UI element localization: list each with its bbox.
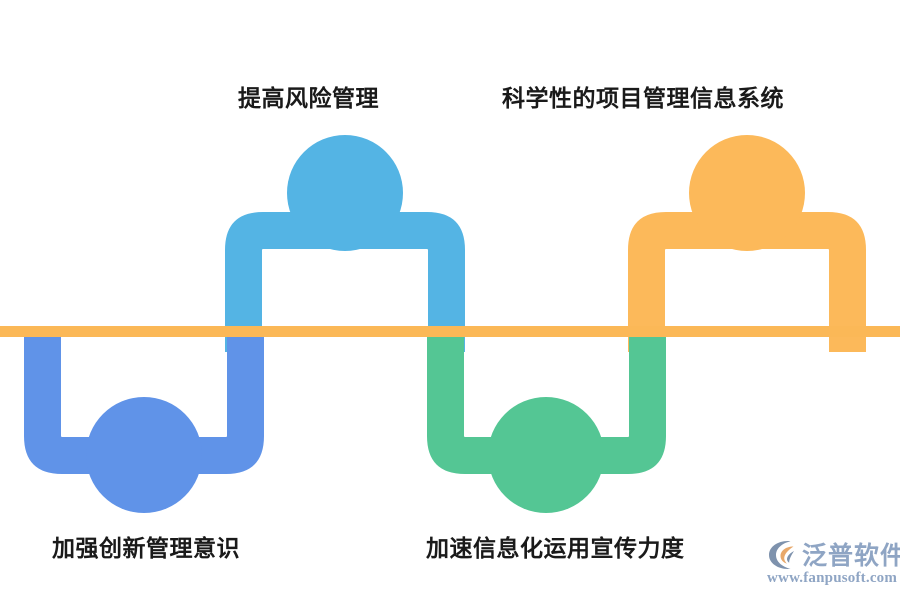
node-label-risk-management: 提高风险管理 xyxy=(238,86,379,111)
brand-name: 泛普软件 xyxy=(802,536,900,572)
node-label-informatization-promotion: 加速信息化运用宣传力度 xyxy=(426,536,685,561)
node-scientific-pm-system-shape[interactable] xyxy=(628,135,866,352)
bracket-node-circle-innovation-awareness xyxy=(86,397,202,513)
brand-watermark: 泛普软件 www.fanpusoft.com xyxy=(766,534,894,592)
diagram-canvas: 提高风险管理 科学性的项目管理信息系统 加强创新管理意识 加速信息化运用宣传力度… xyxy=(0,0,900,600)
node-risk-management-shape[interactable] xyxy=(225,135,465,352)
horizontal-axis-line xyxy=(0,326,900,337)
node-innovation-awareness-shape[interactable] xyxy=(24,337,264,513)
brand-url: www.fanpusoft.com xyxy=(767,570,897,587)
node-label-scientific-pm-system: 科学性的项目管理信息系统 xyxy=(502,86,784,111)
node-informatization-promotion-shape[interactable] xyxy=(427,337,666,513)
fanpusoft-logo-icon xyxy=(766,538,800,572)
node-label-innovation-awareness: 加强创新管理意识 xyxy=(52,536,240,561)
bracket-node-circle-scientific-pm-system xyxy=(689,135,805,251)
bracket-node-circle-risk-management xyxy=(287,135,403,251)
bracket-node-circle-informatization-promotion xyxy=(488,397,604,513)
